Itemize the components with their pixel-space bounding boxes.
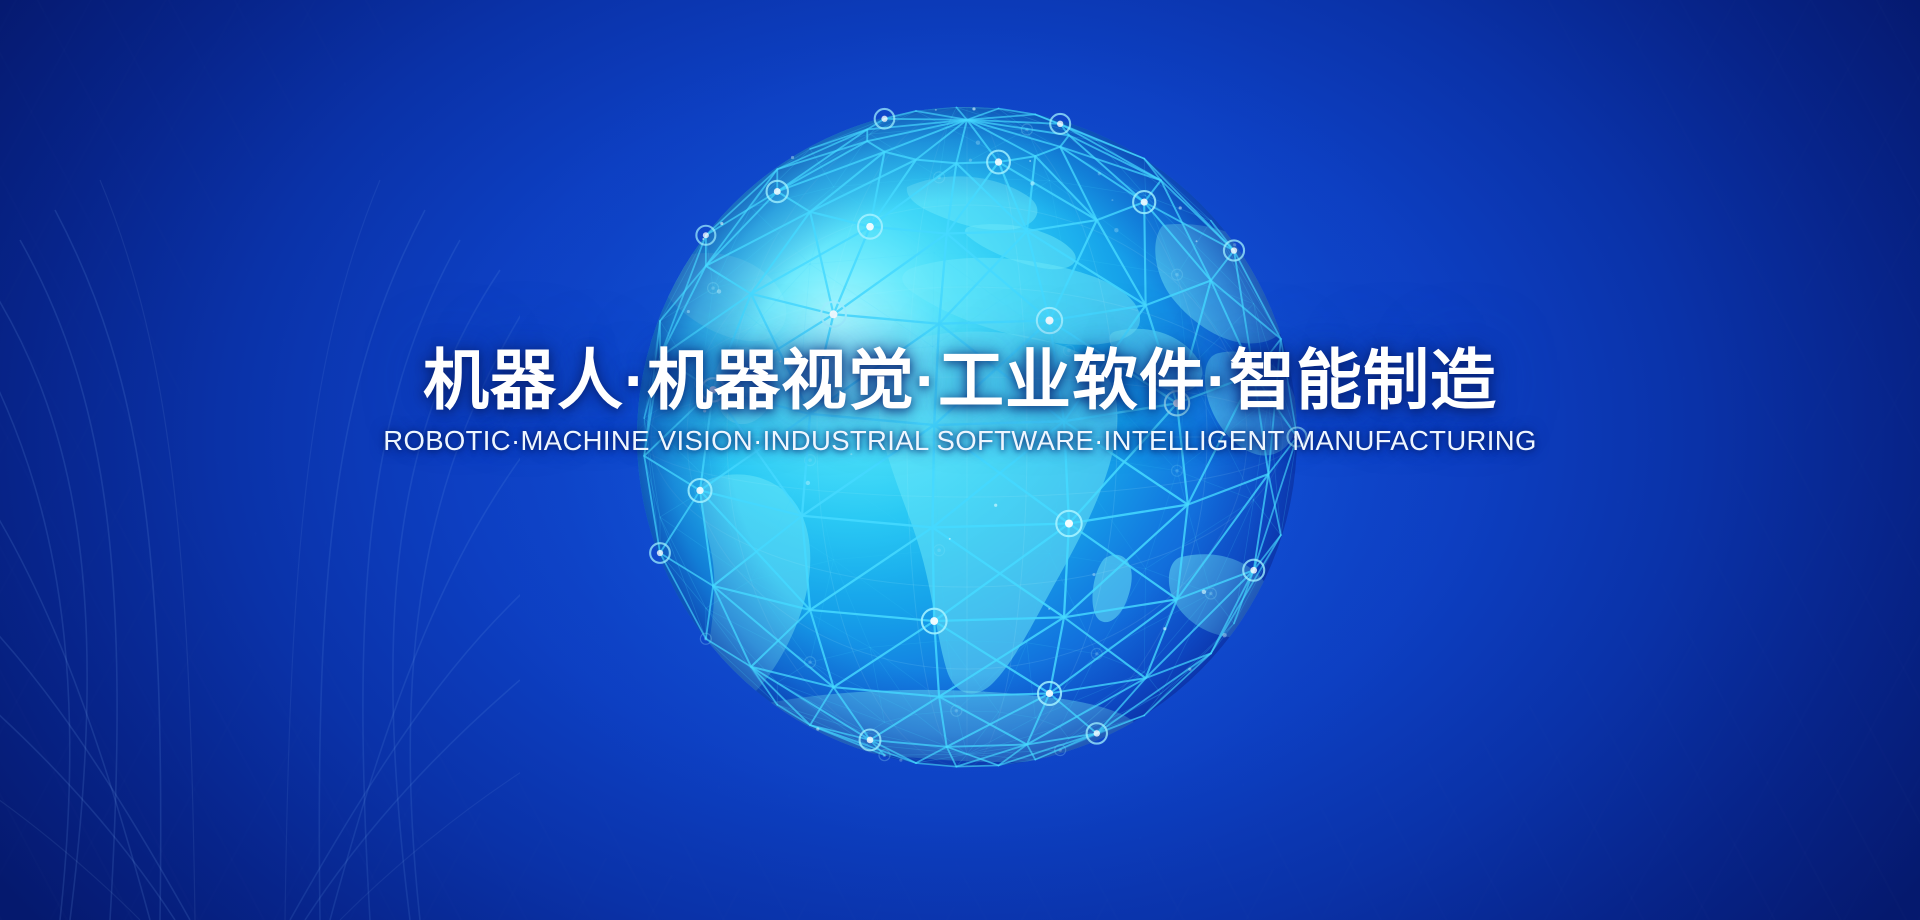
headline-block: 机器人·机器视觉·工业软件·智能制造 ROBOTIC·MACHINE VISIO… bbox=[0, 344, 1920, 456]
decorative-curves-right bbox=[0, 0, 520, 920]
hero-banner: 机器人·机器视觉·工业软件·智能制造 ROBOTIC·MACHINE VISIO… bbox=[0, 0, 1920, 920]
page-title: 机器人·机器视觉·工业软件·智能制造 bbox=[0, 344, 1920, 418]
page-subtitle: ROBOTIC·MACHINE VISION·INDUSTRIAL SOFTWA… bbox=[0, 426, 1920, 456]
